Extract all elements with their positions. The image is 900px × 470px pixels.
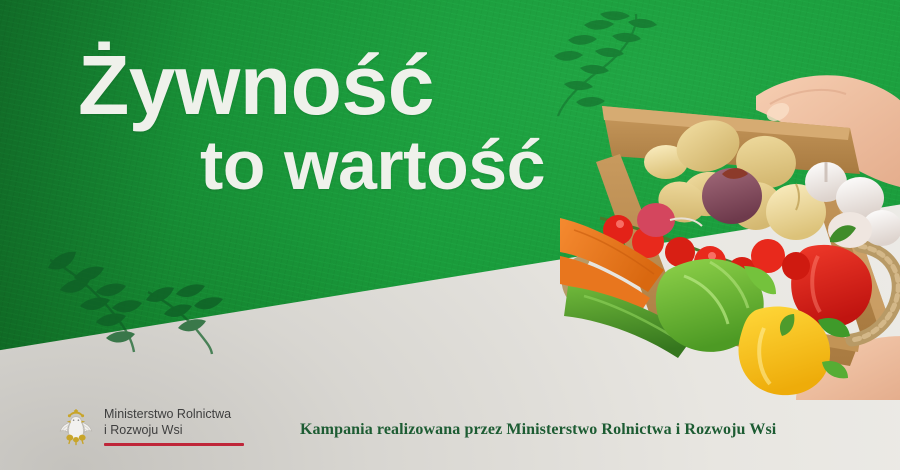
vegetable-basket-photo	[560, 70, 900, 400]
campaign-banner: Żywność to wartość	[0, 0, 900, 470]
ministry-name-block: Ministerstwo Rolnictwa i Rozwoju Wsi	[104, 406, 244, 446]
campaign-caption: Kampania realizowana przez Ministerstwo …	[300, 421, 776, 439]
red-rule-divider	[104, 443, 244, 446]
polish-eagle-emblem-icon	[56, 406, 96, 450]
radish	[637, 203, 675, 237]
headline: Żywność to wartość	[0, 46, 600, 198]
footer: Ministerstwo Rolnictwa i Rozwoju Wsi Kam…	[0, 390, 900, 470]
headline-line-1: Żywność	[0, 46, 600, 126]
ministry-logo: Ministerstwo Rolnictwa i Rozwoju Wsi	[56, 406, 244, 450]
ministry-name-line-2: i Rozwoju Wsi	[104, 422, 244, 438]
ministry-name-line-1: Ministerstwo Rolnictwa	[104, 406, 244, 422]
headline-line-2: to wartość	[0, 132, 600, 199]
